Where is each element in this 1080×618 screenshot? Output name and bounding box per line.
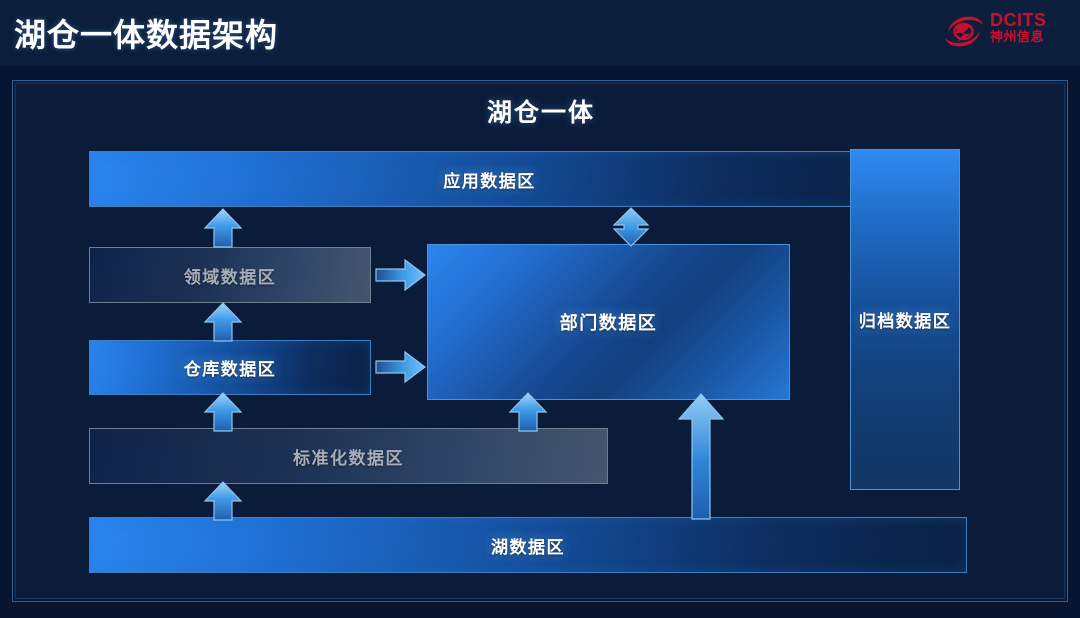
brand-wordmark: DCITS 神州信息	[990, 11, 1068, 46]
brand-name: DCITS	[990, 11, 1068, 30]
arrow-standard-to-department	[507, 392, 549, 432]
slide-canvas: 湖仓一体数据架构 DCITS 神州信息 湖仓一体 应用数据区	[0, 0, 1080, 618]
zone-label-app: 应用数据区	[443, 167, 536, 192]
zone-label-warehouse: 仓库数据区	[184, 355, 277, 380]
page-title: 湖仓一体数据架构	[14, 10, 278, 56]
zone-warehouse[interactable]: 仓库数据区	[89, 340, 371, 395]
arrow-standard-to-warehouse	[202, 392, 244, 432]
arrow-warehouse-to-department	[375, 349, 427, 385]
zone-label-department: 部门数据区	[560, 309, 658, 335]
arrow-domain-to-department	[375, 257, 427, 293]
zone-department[interactable]: 部门数据区	[427, 244, 790, 400]
brand-logo: DCITS 神州信息	[942, 8, 1066, 56]
zone-domain[interactable]: 领域数据区	[89, 247, 371, 303]
slide-header: 湖仓一体数据架构 DCITS 神州信息	[0, 0, 1080, 66]
dcits-swirl-icon	[942, 12, 986, 50]
brand-subtitle: 神州信息	[990, 30, 1068, 46]
zone-standard[interactable]: 标准化数据区	[89, 428, 608, 484]
zone-archive[interactable]: 归档数据区	[850, 149, 960, 490]
zone-label-standard: 标准化数据区	[293, 444, 404, 469]
arrow-app-department-link	[610, 207, 652, 247]
zone-lake[interactable]: 湖数据区	[89, 517, 967, 573]
zone-label-lake: 湖数据区	[491, 533, 565, 558]
architecture-panel: 湖仓一体 应用数据区 领域数据区 仓库数据区 标准化数据区 湖数据区 部门数据区…	[12, 80, 1068, 602]
zone-label-domain: 领域数据区	[184, 263, 277, 288]
panel-title: 湖仓一体	[13, 93, 1069, 129]
arrow-lake-to-standard	[202, 481, 244, 521]
arrow-domain-to-app	[202, 207, 244, 249]
arrow-warehouse-to-domain	[202, 301, 244, 343]
zone-label-archive: 归档数据区	[859, 307, 952, 332]
zone-app[interactable]: 应用数据区	[89, 151, 890, 207]
arrow-lake-to-department	[676, 392, 726, 521]
